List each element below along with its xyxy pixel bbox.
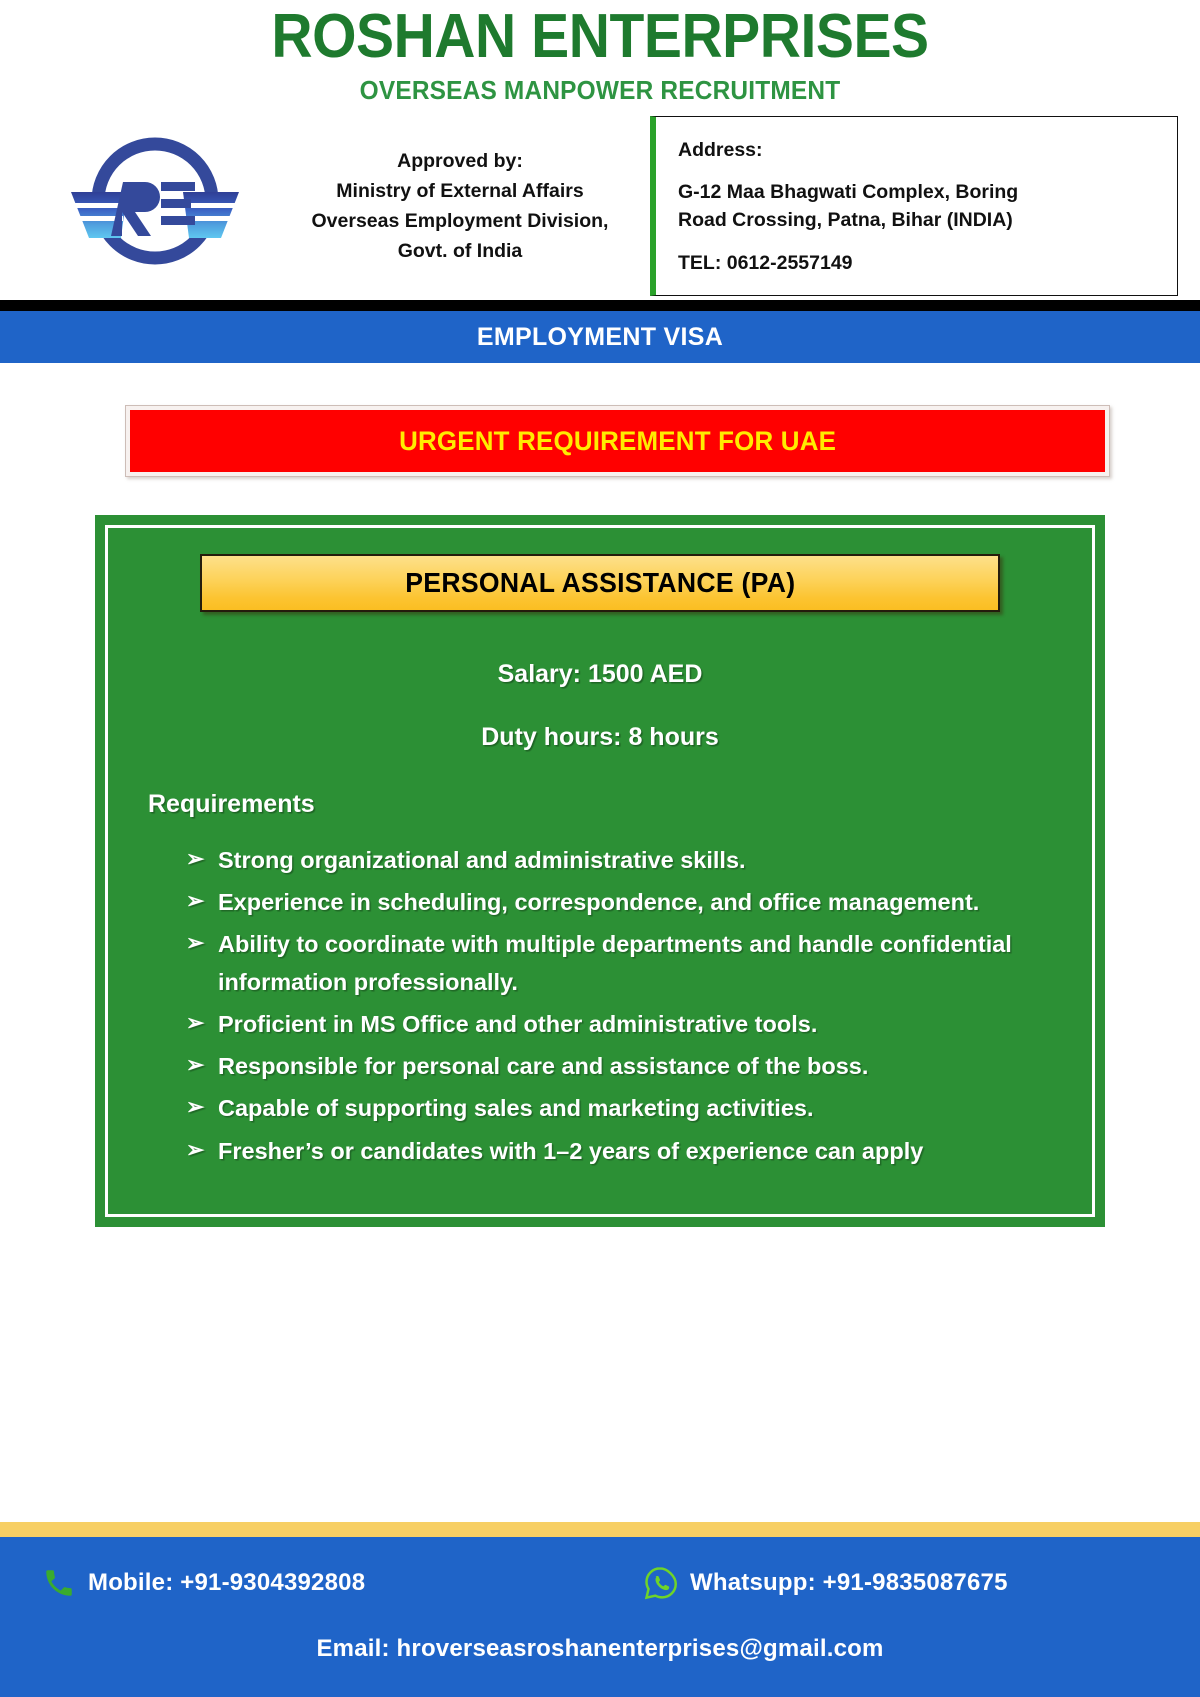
phone-icon — [42, 1566, 76, 1600]
arrow-bullet-icon: ➢ — [186, 1047, 218, 1083]
whatsapp-number: Whatsupp: +91-9835087675 — [690, 1569, 1008, 1597]
requirement-item: ➢ Proficient in MS Office and other admi… — [186, 1005, 1040, 1043]
arrow-bullet-icon: ➢ — [186, 841, 218, 877]
address-label: Address: — [678, 139, 1157, 162]
requirement-text: Fresher’s or candidates with 1–2 years o… — [218, 1132, 1040, 1170]
requirement-item: ➢ Strong organizational and administrati… — [186, 841, 1040, 879]
mobile-contact[interactable]: Mobile: +91-9304392808 — [42, 1566, 642, 1600]
requirements-heading: Requirements — [148, 790, 1070, 819]
requirement-item: ➢ Responsible for personal care and assi… — [186, 1047, 1040, 1085]
arrow-bullet-icon: ➢ — [186, 1005, 218, 1041]
urgent-banner: URGENT REQUIREMENT FOR UAE — [130, 410, 1105, 472]
urgent-banner-frame: URGENT REQUIREMENT FOR UAE — [125, 405, 1110, 477]
footer-spacer — [0, 1227, 1200, 1522]
employment-visa-banner: EMPLOYMENT VISA — [0, 311, 1200, 363]
footer-contact-row: Mobile: +91-9304392808 Whatsupp: +91-983… — [0, 1565, 1200, 1601]
header-info-row: Approved by: Ministry of External Affair… — [0, 116, 1200, 296]
employment-visa-label: EMPLOYMENT VISA — [477, 323, 723, 352]
requirement-item: ➢ Ability to coordinate with multiple de… — [186, 925, 1040, 1001]
requirement-text: Proficient in MS Office and other admini… — [218, 1005, 1040, 1043]
requirement-text: Capable of supporting sales and marketin… — [218, 1089, 1040, 1127]
requirement-item: ➢ Fresher’s or candidates with 1–2 years… — [186, 1132, 1040, 1170]
address-line-2: Road Crossing, Patna, Bihar (INDIA) — [678, 206, 1157, 234]
arrow-bullet-icon: ➢ — [186, 925, 218, 961]
approval-line-1: Approved by: — [397, 146, 523, 176]
whatsapp-icon — [642, 1565, 678, 1601]
address-telephone: TEL: 0612-2557149 — [678, 252, 1157, 275]
logo-cell — [40, 116, 270, 296]
job-duty-hours: Duty hours: 8 hours — [130, 723, 1070, 752]
email-address[interactable]: Email: hroverseasroshanenterprises@gmail… — [0, 1635, 1200, 1663]
requirement-item: ➢ Experience in scheduling, corresponden… — [186, 883, 1040, 921]
requirement-text: Experience in scheduling, correspondence… — [218, 883, 1040, 921]
header-divider — [0, 300, 1200, 311]
job-title: PERSONAL ASSISTANCE (PA) — [405, 567, 795, 599]
approval-line-4: Govt. of India — [398, 236, 523, 266]
requirement-text: Responsible for personal care and assist… — [218, 1047, 1040, 1085]
company-tagline: OVERSEAS MANPOWER RECRUITMENT — [36, 75, 1164, 106]
mobile-number: Mobile: +91-9304392808 — [88, 1569, 365, 1597]
requirement-item: ➢ Capable of supporting sales and market… — [186, 1089, 1040, 1127]
address-box: Address: G-12 Maa Bhagwati Complex, Bori… — [650, 116, 1178, 296]
job-salary: Salary: 1500 AED — [130, 660, 1070, 689]
poster-footer: Mobile: +91-9304392808 Whatsupp: +91-983… — [0, 1537, 1200, 1697]
whatsapp-contact[interactable]: Whatsupp: +91-9835087675 — [642, 1565, 1008, 1601]
poster-header: ROSHAN ENTERPRISES OVERSEAS MANPOWER REC… — [0, 0, 1200, 296]
approval-line-2: Ministry of External Affairs — [336, 176, 583, 206]
recruitment-poster: ROSHAN ENTERPRISES OVERSEAS MANPOWER REC… — [0, 0, 1200, 1697]
company-logo-icon — [65, 126, 245, 276]
arrow-bullet-icon: ➢ — [186, 883, 218, 919]
arrow-bullet-icon: ➢ — [186, 1132, 218, 1168]
approval-text: Approved by: Ministry of External Affair… — [270, 116, 650, 296]
gold-stripe — [0, 1522, 1200, 1537]
requirements-list: ➢ Strong organizational and administrati… — [186, 841, 1040, 1170]
requirement-text: Ability to coordinate with multiple depa… — [218, 925, 1040, 1001]
address-line-1: G-12 Maa Bhagwati Complex, Boring — [678, 178, 1157, 206]
job-title-box: PERSONAL ASSISTANCE (PA) — [200, 554, 1000, 612]
job-panel-outer: PERSONAL ASSISTANCE (PA) Salary: 1500 AE… — [95, 515, 1105, 1227]
job-panel: PERSONAL ASSISTANCE (PA) Salary: 1500 AE… — [105, 525, 1095, 1217]
urgent-banner-label: URGENT REQUIREMENT FOR UAE — [399, 426, 836, 457]
approval-line-3: Overseas Employment Division, — [312, 206, 609, 236]
requirement-text: Strong organizational and administrative… — [218, 841, 1040, 879]
arrow-bullet-icon: ➢ — [186, 1089, 218, 1125]
company-name: ROSHAN ENTERPRISES — [48, 4, 1152, 69]
